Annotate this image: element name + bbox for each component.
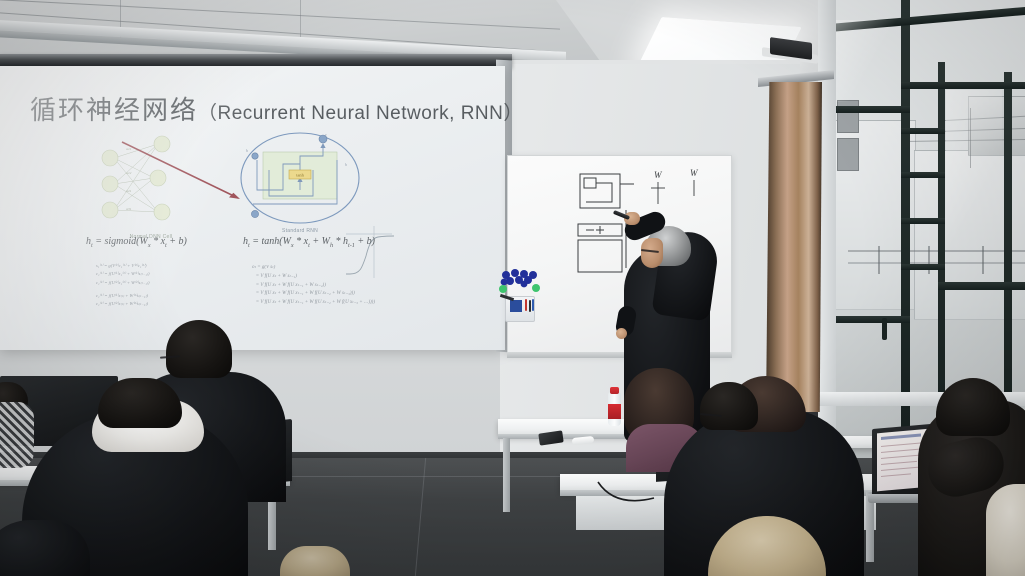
window-transom (901, 172, 945, 178)
window-poster-lower (837, 138, 859, 171)
slide-title-cn: 循环神经网络 (30, 96, 198, 126)
marker-holder-card (510, 300, 522, 312)
projection-screen: 循环神经网络（Recurrent Neural Network, RNN） w1… (0, 66, 505, 350)
slide-title-en: （Recurrent Neural Network, RNN） (198, 103, 523, 124)
cable-on-desk (596, 478, 666, 508)
svg-text:h: h (345, 163, 347, 167)
window-transom (901, 218, 945, 224)
rnn-math-block: oₜ = g(V sₜ) = V f(U xₜ + W sₜ₋₁) = V f(… (252, 264, 375, 308)
window-handle-post[interactable] (882, 318, 887, 340)
window-transom (901, 128, 945, 134)
pointer-arrow (120, 140, 250, 206)
dnn-math-block-2: c₁⁽¹⁾ = f(U⁽¹⁾x₍ₜ₎ + W⁽¹⁾s₍ₜ₋₁₎) c₁⁽²⁾ =… (96, 292, 148, 309)
dnn-formula: ht = sigmoid(Wx * xt + b) (86, 236, 187, 249)
student-center-cap (700, 382, 758, 430)
desk-center-leg (503, 438, 510, 512)
svg-text:W: W (654, 170, 663, 180)
instructor-face (641, 238, 663, 268)
rnn-cell-svg: tanh hhy (237, 130, 363, 230)
window-poster-upper (837, 100, 859, 133)
classroom-photo: ▤▤▤▤▤▤ 循环神经网络（Recurrent Neural Network, … (0, 0, 1025, 576)
marker-black[interactable] (529, 300, 531, 312)
instructor-lower-hand (616, 328, 627, 339)
student-back-left-beanie (166, 320, 232, 378)
foreground-tan-sleeve (280, 546, 350, 576)
student-far-right-jacket (986, 484, 1025, 576)
dnn-math-block-1: s₁⁽¹⁾ = g(V⁽¹⁾c₁⁽¹⁾ + V⁽²⁾c₁⁽²⁾) c₁⁽¹⁾ =… (96, 262, 150, 287)
window-transom (901, 264, 945, 270)
svg-text:y: y (324, 133, 327, 137)
whiteboard-magnets[interactable] (498, 268, 542, 294)
window-transom (901, 82, 1025, 89)
window-curtain (766, 82, 822, 412)
water-bottle-label (608, 404, 621, 419)
marker-red[interactable] (525, 299, 527, 311)
water-bottle-cap[interactable] (610, 387, 619, 394)
student-front-left-head (98, 378, 182, 428)
slide-title: 循环神经网络（Recurrent Neural Network, RNN） (30, 90, 523, 127)
svg-text:W: W (690, 168, 699, 178)
student-far-left-jacket (0, 402, 34, 468)
svg-text:tanh: tanh (296, 173, 304, 178)
marker-blue[interactable] (532, 299, 534, 311)
window-transom (938, 282, 1025, 290)
rnn-formula: ht = tanh(Wx * xt + Wh * ht-1 + b) (243, 236, 375, 249)
svg-text:w31: w31 (126, 207, 132, 211)
